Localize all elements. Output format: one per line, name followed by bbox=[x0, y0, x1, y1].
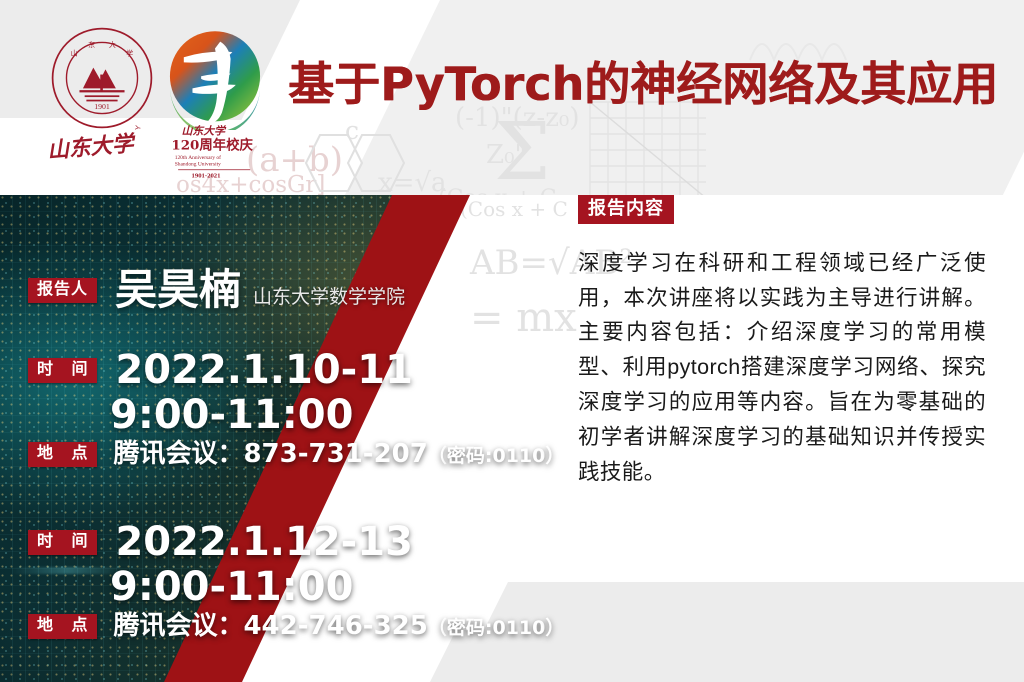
session-2-password: 密码:0110 bbox=[447, 617, 545, 639]
poster-root: (a+b) os4x+cosGr] (-1)"(z-z₀) Z₀" x=√a c… bbox=[0, 0, 1024, 682]
svg-text:学: 学 bbox=[126, 48, 133, 57]
session-1-time-tag: 时 间 bbox=[28, 358, 97, 383]
abstract-paragraph: 深度学习在科研和工程领域已经广泛使用，本次讲座将以实践为主导进行讲解。主要内容包… bbox=[578, 246, 986, 490]
session-details: 报告人 吴昊楠 山东大学数学学院 时 间 2022.1.10-11 9:00-1… bbox=[0, 195, 600, 682]
session-1-pw-close: ） bbox=[545, 445, 564, 467]
session-1-pw-open: （ bbox=[428, 445, 447, 467]
session-2-time-row: 时 间 2022.1.12-13 bbox=[28, 521, 413, 563]
page-title: 基于PyTorch的神经网络及其应用 bbox=[288, 48, 998, 114]
abstract-panel: 报告内容 深度学习在科研和工程领域已经广泛使用，本次讲座将以实践为主导进行讲解。… bbox=[578, 195, 998, 490]
speaker-name: 吴昊楠 bbox=[115, 269, 241, 311]
svg-text:山: 山 bbox=[71, 48, 78, 57]
session-1-venue: 腾讯会议：873-731-207（密码:0110） bbox=[113, 441, 564, 467]
session-1-meeting-id: 873-731-207 bbox=[243, 439, 427, 469]
session-2-time-tag: 时 间 bbox=[28, 530, 97, 555]
speaker-row: 报告人 吴昊楠 山东大学数学学院 bbox=[28, 269, 405, 311]
sdu-120th-anniversary-logo bbox=[163, 26, 267, 130]
shandong-university-seal-logo: 1901 SHANDONG UNIVERSITY 山东 大学 bbox=[50, 26, 154, 130]
svg-text:东: 东 bbox=[88, 40, 95, 49]
svg-text:大: 大 bbox=[109, 40, 116, 49]
anniversary-years: 1901-2021 bbox=[192, 172, 221, 179]
anniversary-wordmark: 山东大学 120周年校庆 120th Anniversary of Shando… bbox=[168, 122, 272, 184]
session-2-meeting-id: 442-746-325 bbox=[243, 611, 427, 641]
session-2-place-tag: 地 点 bbox=[28, 614, 97, 639]
sdu-calligraphy-wordmark: 山东大学 bbox=[48, 124, 160, 176]
session-2-hours: 9:00-11:00 bbox=[110, 564, 353, 610]
anniversary-line1: 120周年校庆 bbox=[171, 137, 253, 154]
anniversary-line3: Shandong University bbox=[175, 162, 221, 168]
session-1-time-row: 时 间 2022.1.10-11 bbox=[28, 349, 413, 391]
session-1-hours: 9:00-11:00 bbox=[110, 392, 353, 438]
sdu-wordmark-text: 山东大学 bbox=[48, 131, 138, 164]
seal-year: 1901 bbox=[94, 102, 110, 111]
session-2-place-label: 腾讯会议： bbox=[113, 611, 243, 641]
session-2-place-row: 地 点 腾讯会议：442-746-325（密码:0110） bbox=[28, 613, 564, 639]
session-2-pw-close: ） bbox=[545, 617, 564, 639]
abstract-badge: 报告内容 bbox=[578, 195, 674, 224]
session-1-place-label: 腾讯会议： bbox=[113, 439, 243, 469]
session-2-venue: 腾讯会议：442-746-325（密码:0110） bbox=[113, 613, 564, 639]
poster-body: x=√a (Cos x + C AB=√AB² = mx 报告人 吴昊楠 山东大… bbox=[0, 195, 1024, 682]
session-2-pw-open: （ bbox=[428, 617, 447, 639]
session-1-date: 2022.1.10-11 bbox=[115, 349, 412, 391]
speaker-affiliation: 山东大学数学学院 bbox=[253, 282, 405, 311]
session-1-place-tag: 地 点 bbox=[28, 442, 97, 467]
session-1-password: 密码:0110 bbox=[447, 445, 545, 467]
poster-header: (a+b) os4x+cosGr] (-1)"(z-z₀) Z₀" x=√a c… bbox=[0, 0, 1024, 195]
speaker-tag: 报告人 bbox=[28, 278, 97, 303]
anniversary-line2: 120th Anniversary of bbox=[175, 154, 221, 161]
session-1-place-row: 地 点 腾讯会议：873-731-207（密码:0110） bbox=[28, 441, 564, 467]
anniversary-wordmark-cn: 山东大学 bbox=[181, 125, 227, 138]
session-2-date: 2022.1.12-13 bbox=[115, 521, 412, 563]
